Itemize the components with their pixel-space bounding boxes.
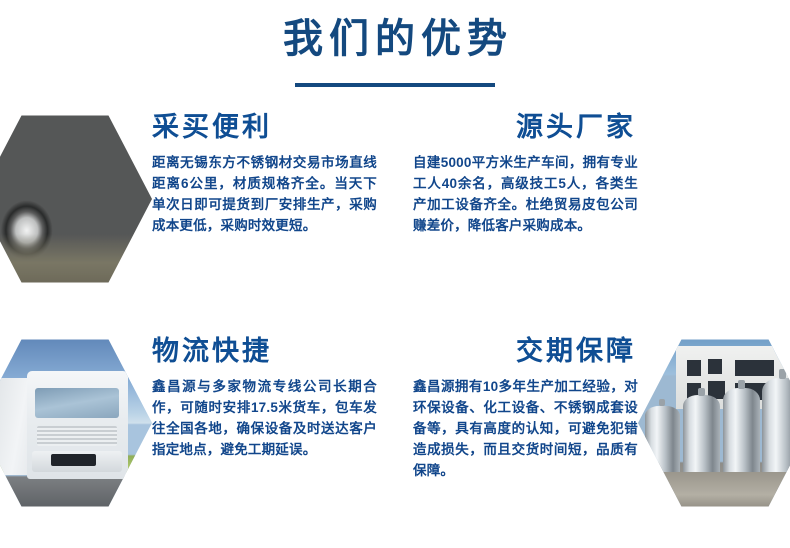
feature-body: 鑫昌源与多家物流专线公司长期合作，可随时安排17.5米货车，包车发往全国各地，确… [152,376,377,460]
feature-body: 自建5000平方米生产车间，拥有专业工人40余名，高级技工5人，各类生产加工设备… [413,152,638,236]
building-window [708,359,722,375]
building-window [687,360,701,376]
truck-air-intake [51,454,96,466]
advantages-page: { "header": { "title": "我们的优势", "rule_co… [0,0,790,548]
feature-title: 源头厂家 [413,110,638,144]
feature-card-procurement-convenience: 采买便利 距离无锡东方不锈钢材交易市场直线距离6公里，材质规格齐全。当天下单次日… [0,100,395,324]
feature-body: 距离无锡东方不锈钢材交易市场直线距离6公里，材质规格齐全。当天下单次日即可提货到… [152,152,377,236]
feature-copy: 采买便利 距离无锡东方不锈钢材交易市场直线距离6公里，材质规格齐全。当天下单次日… [152,110,377,236]
steel-coils-photo [0,112,152,286]
feature-title: 物流快捷 [152,334,377,368]
storage-tank [762,378,790,475]
tank-yard-ground [638,472,790,510]
delivery-truck-photo [0,336,152,510]
feature-card-delivery-guarantee: 交期保障 鑫昌源拥有10多年生产加工经验，对环保设备、化工设备、不锈钢成套设备等… [395,324,790,548]
feature-title: 采买便利 [152,110,377,144]
factory-left-wall [638,112,718,125]
feature-copy: 物流快捷 鑫昌源与多家物流专线公司长期合作，可随时安排17.5米货车，包车发往全… [152,334,377,460]
storage-tank [723,388,760,475]
page-header: 我们的优势 [0,0,790,100]
feature-title: 交期保障 [413,334,638,368]
feature-copy: 源头厂家 自建5000平方米生产车间，拥有专业工人40余名，高级技工5人，各类生… [413,110,638,236]
title-underline-rule [295,83,495,87]
factory-right-wall [715,112,790,126]
stainless-tanks-photo [638,336,790,510]
feature-body: 鑫昌源拥有10多年生产加工经验，对环保设备、化工设备、不锈钢成套设备等，具有高度… [413,376,638,481]
building-window [735,360,773,376]
factory-building-photo [638,112,790,286]
truck-windshield [35,388,119,418]
storage-tank [645,406,680,476]
feature-card-source-manufacturer: 源头厂家 自建5000平方米生产车间，拥有专业工人40余名，高级技工5人，各类生… [395,100,790,324]
feature-card-fast-logistics: 物流快捷 鑫昌源与多家物流专线公司长期合作，可随时安排17.5米货车，包车发往全… [0,324,395,548]
storage-tank [683,395,720,475]
page-title: 我们的优势 [0,16,790,62]
advantages-grid: 采买便利 距离无锡东方不锈钢材交易市场直线距离6公里，材质规格齐全。当天下单次日… [0,100,790,548]
feature-copy: 交期保障 鑫昌源拥有10多年生产加工经验，对环保设备、化工设备、不锈钢成套设备等… [413,334,638,481]
truck-grille [37,426,117,445]
